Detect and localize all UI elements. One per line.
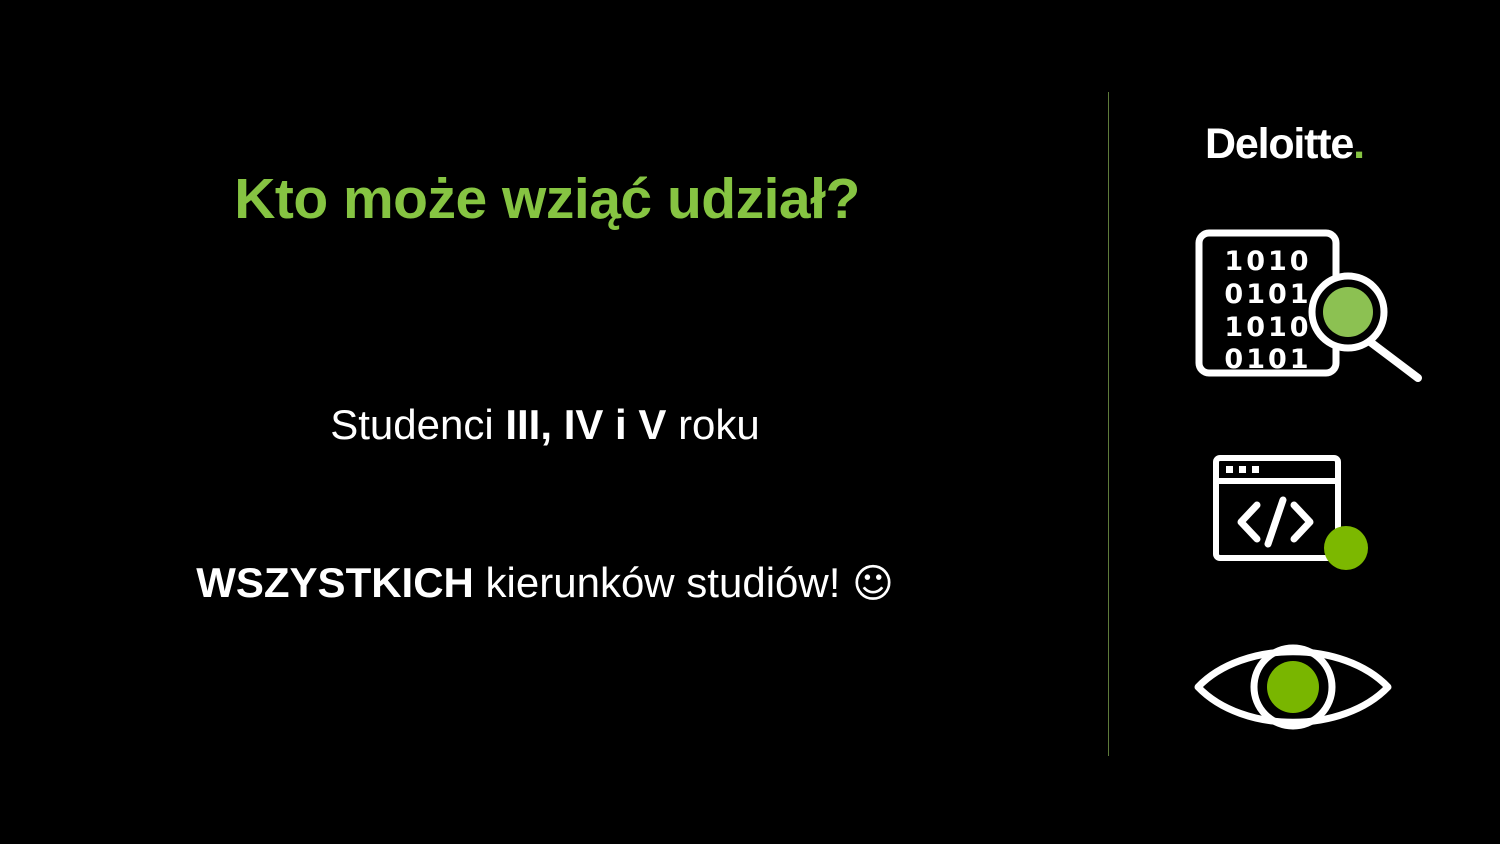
body-line-students-prefix: Studenci <box>330 401 505 448</box>
slide-content-area: Kto może wziąć udział? Studenci III, IV … <box>0 0 1090 844</box>
binary-data-magnifier-icon: 1010 0101 1010 0101 <box>1186 218 1436 388</box>
brand-rail: Deloitte. 1010 0101 1010 0101 <box>1108 0 1500 844</box>
code-symbol <box>1241 500 1310 544</box>
binary-row-4: 0101 <box>1224 344 1311 375</box>
deloitte-logo: Deloitte. <box>1205 120 1364 169</box>
presentation-slide: Kto może wziąć udział? Studenci III, IV … <box>0 0 1500 844</box>
deloitte-logo-text: Deloitte <box>1205 120 1353 168</box>
deloitte-logo-dot: . <box>1353 120 1364 168</box>
body-line-students: Studenci III, IV i V roku <box>0 400 1090 450</box>
body-line-students-suffix: roku <box>666 401 759 448</box>
magnifier-lens <box>1323 287 1373 337</box>
body-line-faculties: WSZYSTKICH kierunków studiów! ☺ <box>0 558 1090 608</box>
body-line-faculties-emphasis: WSZYSTKICH <box>196 559 474 606</box>
code-window-icon <box>1208 450 1468 575</box>
smiley-face-icon: ☺ <box>852 561 894 607</box>
body-line-students-emphasis: III, IV i V <box>505 401 666 448</box>
binary-row-1: 1010 <box>1224 246 1311 277</box>
eye-icon <box>1188 635 1458 740</box>
eye-pupil <box>1267 661 1319 713</box>
code-window-dots <box>1226 466 1259 473</box>
page-title-text: Kto może wziąć udział? <box>234 167 860 231</box>
binary-row-3: 1010 <box>1224 312 1311 343</box>
body-line-faculties-suffix: kierunków studiów! <box>474 559 852 606</box>
code-window-accent-dot <box>1324 526 1368 570</box>
page-title: Kto może wziąć udział? <box>0 167 1090 233</box>
binary-row-2: 0101 <box>1224 279 1311 310</box>
